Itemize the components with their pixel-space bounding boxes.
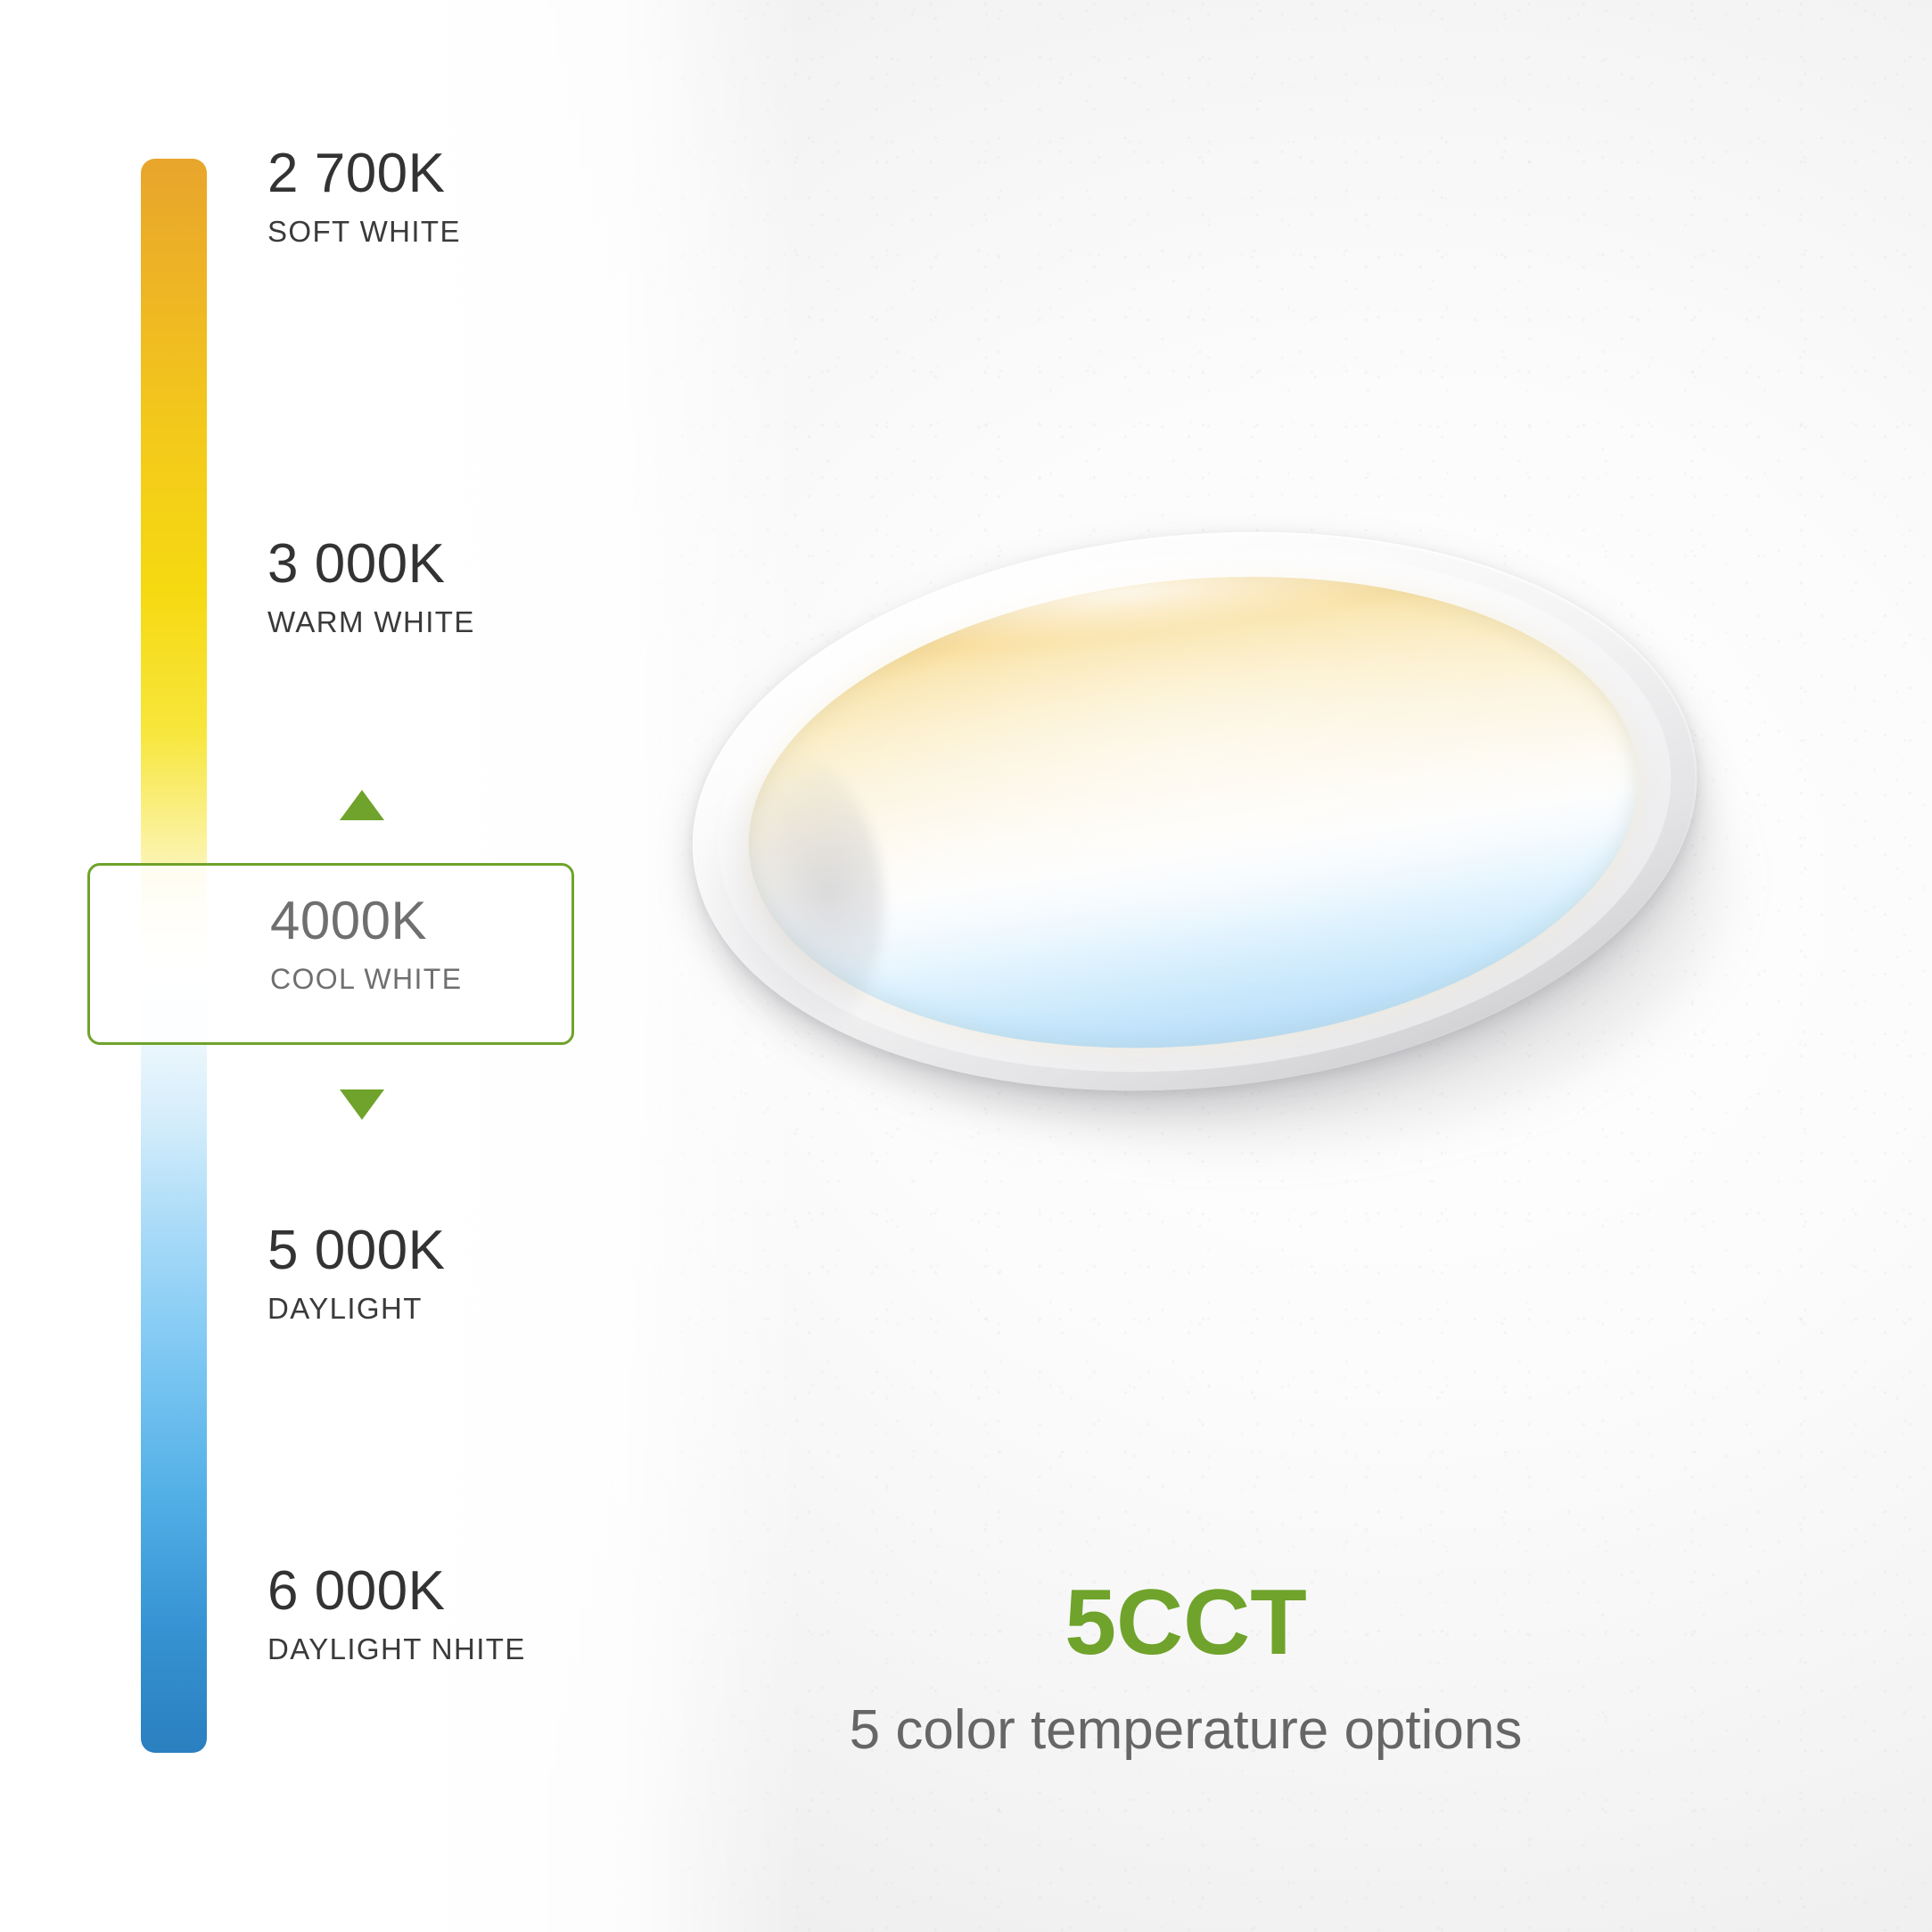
lamp-body — [667, 488, 1722, 1134]
cct-step-kelvin: 3 000K — [267, 535, 475, 594]
cct-step-3000k: 3 000K WARM WHITE — [267, 535, 475, 638]
cct-step-kelvin: 6 000K — [267, 1562, 526, 1621]
infographic-canvas: 2 700K SOFT WHITE 3 000K WARM WHITE 4000… — [0, 0, 1932, 1932]
caption-block: 5CCT 5 color temperature options — [624, 1576, 1747, 1758]
cct-step-5000k: 5 000K DAYLIGHT — [267, 1221, 446, 1325]
caption-subtitle: 5 color temperature options — [624, 1703, 1747, 1758]
caption-title: 5CCT — [624, 1576, 1747, 1669]
product-image-ceiling-light — [691, 535, 1725, 1106]
lamp-bezel-ring — [667, 488, 1722, 1134]
cct-step-4000k-selected-card[interactable]: 4000K COOL WHITE — [87, 863, 574, 1045]
cct-step-name: DAYLIGHT NHITE — [267, 1633, 526, 1665]
cct-selected-text: 4000K COOL WHITE — [270, 892, 462, 995]
cct-step-name: COOL WHITE — [270, 964, 462, 995]
cct-step-name: WARM WHITE — [267, 606, 475, 638]
cct-step-kelvin: 2 700K — [267, 144, 461, 203]
cct-step-kelvin: 5 000K — [267, 1221, 446, 1280]
triangle-up-icon[interactable] — [340, 790, 384, 820]
cct-step-kelvin: 4000K — [270, 892, 462, 950]
cct-step-name: SOFT WHITE — [267, 216, 461, 248]
triangle-down-icon[interactable] — [340, 1089, 384, 1120]
cct-step-6000k: 6 000K DAYLIGHT NHITE — [267, 1562, 526, 1665]
cct-step-2700k: 2 700K SOFT WHITE — [267, 144, 461, 248]
cct-step-name: DAYLIGHT — [267, 1293, 446, 1325]
